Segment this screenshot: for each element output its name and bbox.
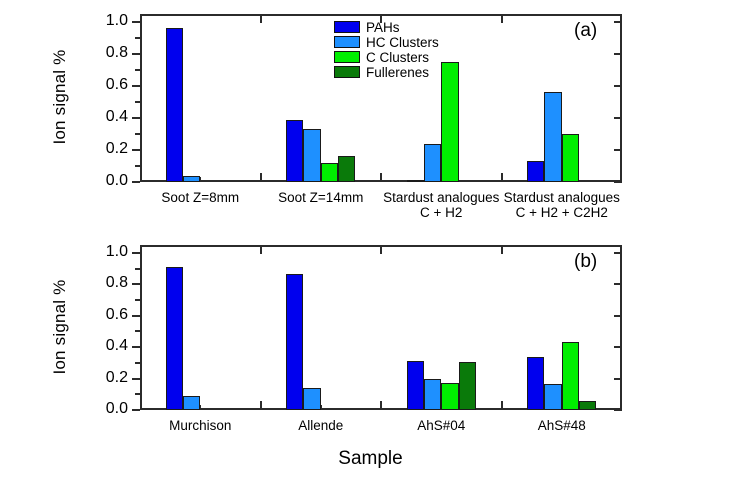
- x-tick-major: [380, 401, 382, 410]
- bar-pahs: [527, 357, 544, 410]
- bar-pahs: [286, 274, 303, 410]
- bar-hc-clusters: [303, 388, 320, 410]
- y-tick-label: 1.0: [84, 243, 128, 261]
- legend-swatch-fullerenes: [334, 66, 360, 78]
- y-tick-label: 0.8: [84, 274, 128, 292]
- x-category-label: AhS#48: [496, 418, 629, 433]
- y-tick-major: [132, 252, 140, 254]
- bar-hc-clusters: [183, 396, 200, 410]
- x-axis-title: Sample: [0, 448, 741, 470]
- y-tick-major: [132, 283, 140, 285]
- x-category-label-line: Allende: [255, 418, 388, 433]
- x-category-label: AhS#04: [375, 418, 508, 433]
- legend-swatch-c-clusters: [334, 51, 360, 63]
- x-category-label: Murchison: [134, 418, 267, 433]
- y-tick-label: 0.4: [84, 337, 128, 355]
- x-tick-major-top: [501, 245, 503, 254]
- legend-item: Fullerenes: [334, 65, 439, 79]
- y-tick-minor: [135, 330, 140, 332]
- x-category-label: Allende: [255, 418, 388, 433]
- y-tick-label: 0.0: [84, 400, 128, 418]
- legend-item: HC Clusters: [334, 35, 439, 49]
- x-tick-major: [501, 401, 503, 410]
- bar-hc-clusters: [544, 384, 561, 410]
- legend-label: PAHs: [366, 20, 400, 35]
- y-tick-major: [132, 346, 140, 348]
- y-tick-minor: [135, 362, 140, 364]
- legend-item: PAHs: [334, 20, 439, 34]
- bar-pahs: [166, 267, 183, 410]
- y-tick-major-right: [614, 346, 622, 348]
- figure-root: 0.00.20.40.60.81.0Ion signal %Soot Z=8mm…: [0, 0, 741, 486]
- legend-swatch-pahs: [334, 21, 360, 33]
- legend-label: Fullerenes: [366, 65, 429, 80]
- y-axis-title: Ion signal %: [50, 247, 70, 407]
- y-tick-major-right: [614, 283, 622, 285]
- y-tick-label: 0.2: [84, 369, 128, 387]
- bar-c-clusters: [562, 342, 579, 410]
- bar-fullerenes: [579, 401, 596, 410]
- x-tick-major: [260, 401, 262, 410]
- bar-c-clusters: [441, 383, 458, 411]
- legend-swatch-hc-clusters: [334, 36, 360, 48]
- x-category-label-line: Murchison: [134, 418, 267, 433]
- y-tick-major-right: [614, 315, 622, 317]
- y-tick-major: [132, 378, 140, 380]
- y-tick-major: [132, 315, 140, 317]
- y-tick-minor: [135, 393, 140, 395]
- x-category-label-line: AhS#48: [496, 418, 629, 433]
- y-tick-label: 0.6: [84, 306, 128, 324]
- x-category-label-line: AhS#04: [375, 418, 508, 433]
- bar-hc-clusters: [424, 379, 441, 410]
- bar-pahs: [407, 361, 424, 410]
- panel-tag-b: (b): [574, 251, 597, 273]
- bar-fullerenes: [459, 362, 476, 410]
- legend-label: C Clusters: [366, 50, 429, 65]
- legend-label: HC Clusters: [366, 35, 439, 50]
- legend-item: C Clusters: [334, 50, 439, 64]
- x-tick-major-top: [260, 245, 262, 254]
- y-tick-major-right: [614, 252, 622, 254]
- y-tick-major-right: [614, 378, 622, 380]
- x-tick-major-top: [380, 245, 382, 254]
- y-tick-major: [132, 409, 140, 411]
- y-tick-minor: [135, 299, 140, 301]
- y-tick-minor: [135, 268, 140, 270]
- chart-legend: PAHsHC ClustersC ClustersFullerenes: [334, 20, 439, 80]
- y-tick-major-right: [614, 409, 622, 411]
